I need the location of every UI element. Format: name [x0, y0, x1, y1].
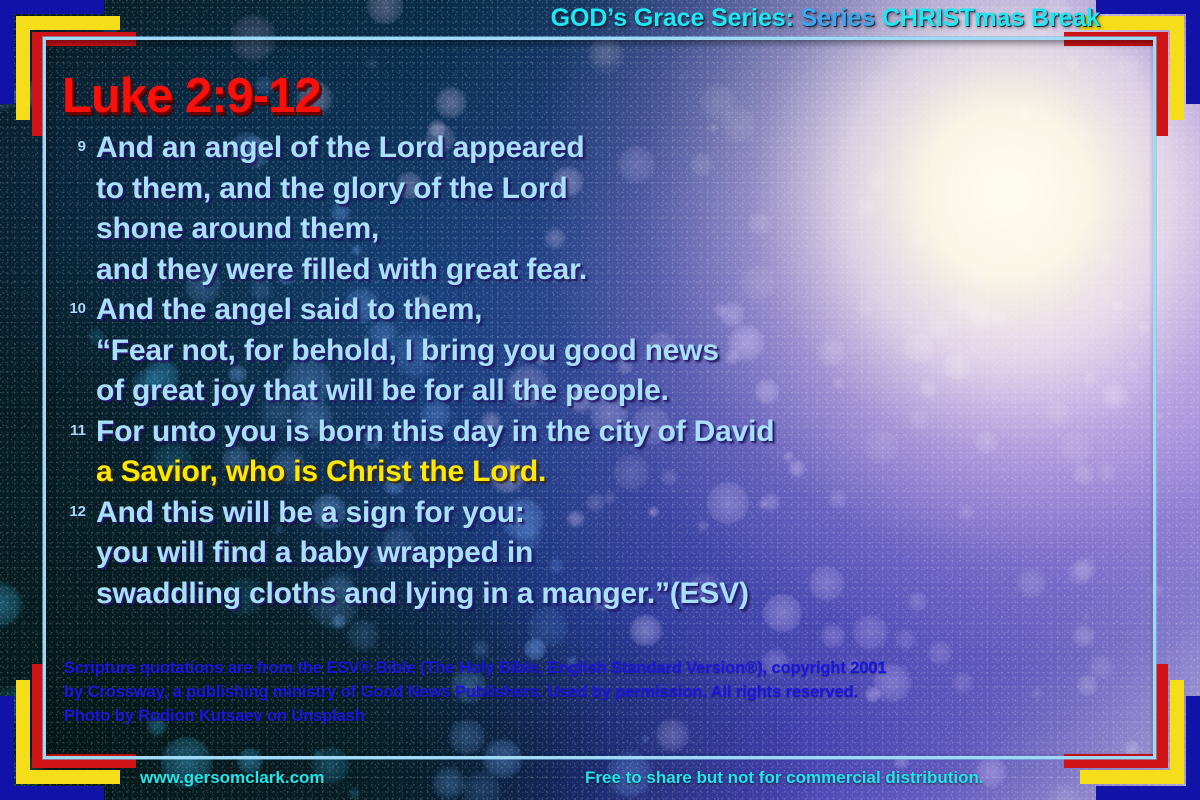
verse-row: 11For unto you is born this day in the c…	[58, 412, 1098, 493]
verse-line: and they were filled with great fear.	[96, 250, 1098, 291]
verse-lines: For unto you is born this day in the cit…	[96, 412, 1098, 493]
verse-line: And an angel of the Lord appeared	[96, 128, 1098, 169]
series-title-part-1: GOD’s Grace Series:	[551, 4, 801, 32]
verse-line: And the angel said to them,	[96, 290, 1098, 331]
bracket-yellow-vertical	[1170, 680, 1184, 784]
verse-number: 12	[58, 493, 96, 531]
series-title-part-3: CHRISTmas Break	[882, 4, 1100, 32]
verse-lines: And the angel said to them,“Fear not, fo…	[96, 290, 1098, 412]
copyright-line: Scripture quotations are from the ESV® B…	[64, 656, 1074, 680]
verse-number: 9	[58, 128, 96, 166]
verse-line: you will find a baby wrapped in	[96, 533, 1098, 574]
verse-lines: And this will be a sign for you:you will…	[96, 493, 1098, 615]
copyright-notice: Scripture quotations are from the ESV® B…	[64, 656, 1074, 728]
bracket-blue-horizontal	[0, 0, 104, 14]
verse-line: And this will be a sign for you:	[96, 493, 1098, 534]
bracket-red-vertical	[1154, 664, 1168, 768]
passage-reference-title: Luke 2:9-12	[62, 68, 321, 124]
bracket-blue-horizontal	[1096, 786, 1200, 800]
bracket-blue-vertical	[0, 0, 14, 104]
series-title-part-2: Series	[801, 4, 882, 32]
verse-number: 11	[58, 412, 96, 450]
verse-row: 12And this will be a sign for you:you wi…	[58, 493, 1098, 615]
verse-lines: And an angel of the Lord appearedto them…	[96, 128, 1098, 290]
verse-line: “Fear not, for behold, I bring you good …	[96, 331, 1098, 372]
footer-website-link[interactable]: www.gersomclark.com	[140, 768, 325, 788]
bracket-blue-vertical	[1186, 696, 1200, 800]
bracket-yellow-vertical	[1170, 16, 1184, 120]
slide-canvas: GOD’s Grace Series: Series CHRISTmas Bre…	[0, 0, 1200, 800]
verse-number: 10	[58, 290, 96, 328]
verse-line: to them, and the glory of the Lord	[96, 169, 1098, 210]
verse-line: shone around them,	[96, 209, 1098, 250]
bracket-blue-vertical	[0, 696, 14, 800]
bracket-yellow-vertical	[16, 16, 30, 120]
verse-line: swaddling cloths and lying in a manger.”…	[96, 574, 1098, 615]
verse-line-highlighted: a Savior, who is Christ the Lord.	[96, 452, 1098, 493]
bracket-blue-horizontal	[0, 786, 104, 800]
footer-license-text: Free to share but not for commercial dis…	[585, 768, 984, 788]
scripture-body: 9And an angel of the Lord appearedto the…	[58, 128, 1098, 614]
bracket-blue-horizontal	[1096, 0, 1200, 14]
bracket-yellow-horizontal	[16, 16, 120, 30]
bracket-red-vertical	[1154, 32, 1168, 136]
verse-line: For unto you is born this day in the cit…	[96, 412, 1098, 453]
bracket-yellow-horizontal	[1080, 770, 1184, 784]
bracket-yellow-vertical	[16, 680, 30, 784]
bracket-blue-vertical	[1186, 0, 1200, 104]
copyright-line: by Crossway, a publishing ministry of Go…	[64, 680, 1074, 704]
series-title: GOD’s Grace Series: Series CHRISTmas Bre…	[551, 4, 1100, 33]
verse-line: of great joy that will be for all the pe…	[96, 371, 1098, 412]
verse-row: 9And an angel of the Lord appearedto the…	[58, 128, 1098, 290]
copyright-line: Photo by Rodion Kutsaev on Unsplash	[64, 704, 1074, 728]
bracket-yellow-horizontal	[16, 770, 120, 784]
verse-row: 10And the angel said to them,“Fear not, …	[58, 290, 1098, 412]
